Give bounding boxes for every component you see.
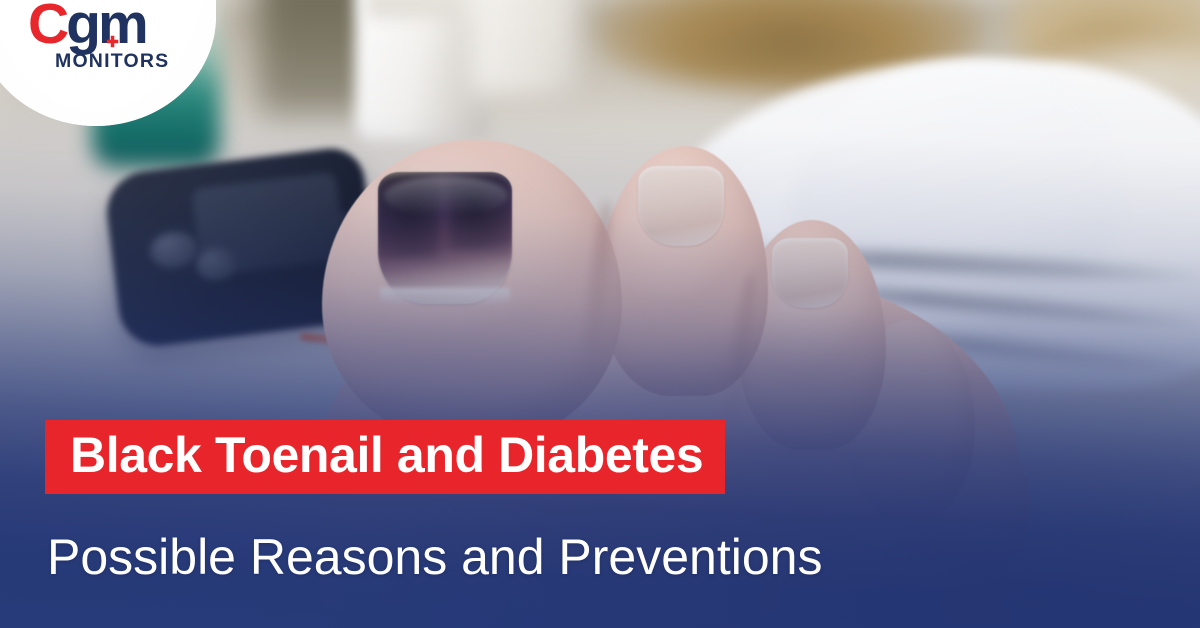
page-title: Black Toenail and Diabetes bbox=[70, 429, 703, 481]
logo-subtext: MONITORS bbox=[55, 50, 169, 73]
logo-wordmark: Cgm bbox=[28, 0, 146, 53]
medical-cross-icon: ✚ bbox=[106, 36, 119, 49]
page-subtitle: Possible Reasons and Preventions bbox=[47, 528, 822, 586]
article-hero-banner: Cgm ✚ MONITORS Black Toenail and Diabete… bbox=[0, 0, 1200, 628]
logo-letter-c: C bbox=[28, 0, 66, 56]
logo-lockup: Cgm ✚ MONITORS bbox=[28, 0, 188, 78]
title-banner: Black Toenail and Diabetes bbox=[45, 420, 725, 494]
